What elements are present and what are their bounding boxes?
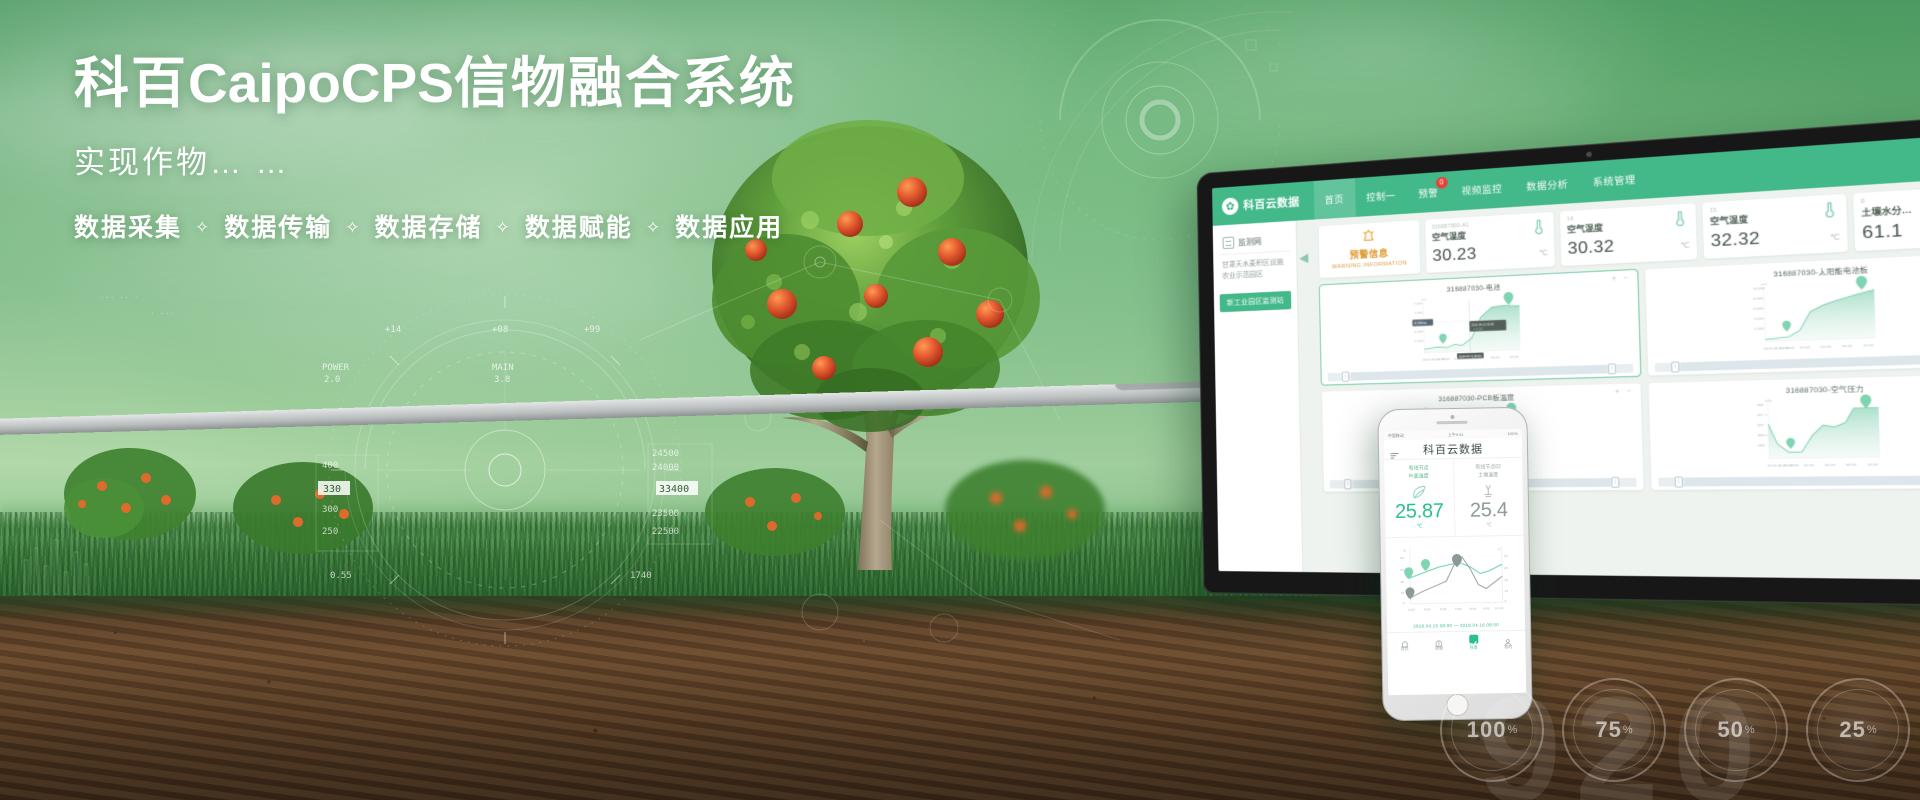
svg-text:986.5: 986.5 (1757, 433, 1767, 438)
phone-metric-name: 叶面温度 (1386, 473, 1451, 482)
phone-metric-cards: 有线节点叶面温度25.87℃有线节点02土壤温度25.4℃ (1384, 458, 1523, 538)
nav-item-首页[interactable]: 首页 (1313, 178, 1355, 219)
slider-handle-left[interactable]: ⁞ (1671, 362, 1679, 373)
svg-text:25: 25 (1400, 568, 1404, 572)
svg-text:7,200: 7,200 (1414, 302, 1423, 307)
hero-bullet-item: 数据应用 (675, 208, 783, 244)
laptop-device: ✿ 科百云数据 首页控制一预警0视频监控数据分析系统管理 监测网 甘肃天水麦积区… (1197, 110, 1920, 608)
svg-text:2,000: 2,000 (1754, 327, 1764, 332)
stat-unit: ℃ (1539, 249, 1548, 258)
svg-text:0: 0 (1403, 601, 1405, 605)
soil-probe-icon (1480, 482, 1497, 497)
chart-card[interactable]: 316887030-电池+ −6,715.002018-06-12 06:00●… (1320, 270, 1640, 385)
stat-card[interactable]: 8土壤水分…61.1% (1853, 184, 1920, 252)
svg-text:06:00: 06:00 (1824, 463, 1835, 468)
svg-text:15: 15 (1504, 589, 1508, 593)
title-latin: CaipoCPS (188, 52, 454, 114)
title-cn-1: 科百 (74, 52, 188, 114)
svg-text:6,000: 6,000 (1753, 306, 1763, 311)
svg-text:0: 0 (1505, 599, 1507, 603)
phone-body: 中国移动 上午9:41 100% 科百云数据 有线节点叶面温度25.87℃有线节… (1377, 407, 1532, 722)
stat-unit: ℃ (1830, 233, 1840, 243)
bullet-separator-icon: ✧ (646, 219, 662, 236)
stat-card[interactable]: 14空气温度30.32℃ (1560, 203, 1697, 266)
slider-fill (1684, 476, 1920, 487)
leaf-shield-icon: ✿ (1222, 197, 1239, 215)
phone-tab-任务[interactable]: 任务 (1456, 631, 1491, 655)
page-title: 科百CaipoCPS信物融合系统 (74, 52, 894, 115)
nav-item-预警[interactable]: 预警0 (1406, 171, 1450, 213)
svg-text:06:00: 06:00 (1472, 356, 1481, 361)
svg-text:15: 15 (1400, 591, 1404, 595)
phone-home-button[interactable] (1446, 694, 1468, 716)
svg-text:02:00: 02:00 (1782, 463, 1793, 468)
dashboard-logo[interactable]: ✿ 科百云数据 (1222, 192, 1314, 215)
phone-tab-label: 首页 (1387, 646, 1422, 653)
chart-plot: 10,0008,0006,0004,0002,0002018-06-12 00:… (1652, 269, 1920, 362)
svg-text:3:00: 3:00 (1408, 608, 1415, 612)
phone-app-title: 科百云数据 (1423, 440, 1483, 457)
home-icon (1400, 636, 1409, 645)
svg-text:02:00: 02:00 (1778, 346, 1788, 351)
status-battery: 100% (1507, 431, 1517, 436)
notification-badge: 0 (1436, 177, 1448, 189)
phone-screen: 中国移动 上午9:41 100% 科百云数据 有线节点叶面温度25.87℃有线节… (1384, 429, 1527, 695)
sidebar-site-name: 甘肃天水麦积区设施农业示范园区 (1219, 251, 1291, 288)
nav-item-label: 预警 (1418, 185, 1438, 200)
user-icon (1503, 634, 1512, 643)
hero-banner: +14+08+99 POWER2.0 MAIN3.8 400300250 245… (0, 0, 1920, 800)
dashboard-logo-label: 科百云数据 (1243, 193, 1300, 213)
svg-text:6,400: 6,400 (1414, 330, 1423, 335)
svg-text:08:00: 08:00 (1845, 463, 1856, 468)
svg-text:7,000: 7,000 (1414, 311, 1423, 316)
svg-text:4,000: 4,000 (1753, 317, 1763, 322)
svg-text:hPa: hPa (1765, 399, 1772, 404)
leaf-icon (1410, 483, 1427, 498)
svg-text:5:00: 5:00 (1440, 607, 1447, 611)
svg-text:987.5: 987.5 (1756, 413, 1766, 418)
nav-item-label: 首页 (1325, 192, 1344, 207)
svg-text:10:00: 10:00 (1867, 462, 1878, 467)
svg-text:06:00: 06:00 (1820, 344, 1831, 349)
phone-metric-unit: ℃ (1457, 522, 1522, 529)
cloud-wisp (1080, 40, 1600, 160)
alarm-icon (1360, 228, 1377, 245)
webcam-icon (1586, 152, 1592, 158)
stat-value: 30.23 (1432, 245, 1477, 266)
svg-text:986: 986 (1757, 443, 1764, 448)
bullet-separator-icon: ✧ (195, 219, 211, 236)
phone-metric-value: 25.87 (1387, 500, 1452, 524)
svg-text:25: 25 (1504, 566, 1508, 570)
svg-text:08:00: 08:00 (1491, 355, 1500, 360)
svg-text:8,000: 8,000 (1753, 296, 1763, 301)
slider-handle-left[interactable]: ⁞ (1342, 372, 1349, 383)
dashboard-body: 监测网 甘肃天水麦积区设施农业示范园区 新工业园区监测站 ◀ ▶ 预警信息WAR… (1213, 174, 1920, 581)
nav-item-系统管理[interactable]: 系统管理 (1580, 157, 1649, 203)
nav-item-label: 控制一 (1366, 188, 1396, 203)
phone-tab-label: 数据 (1422, 645, 1457, 652)
cloud-wisp (60, 230, 680, 350)
svg-text:20: 20 (1400, 580, 1404, 584)
svg-text:10:00: 10:00 (1509, 355, 1518, 360)
phone-metric-name: 土壤温度 (1456, 471, 1521, 480)
chart-card[interactable]: 316887030-太阳能电池板+ −10,0008,0006,0004,000… (1645, 252, 1920, 376)
hero-bullet-list: 数据采集✧数据传输✧数据存储✧数据赋能✧数据应用 (74, 208, 894, 244)
nav-item-控制一[interactable]: 控制一 (1355, 174, 1408, 217)
stat-card-warning[interactable]: 预警信息WARNING INFORMATION (1319, 220, 1421, 278)
svg-text:04:00: 04:00 (1799, 345, 1810, 350)
svg-text:8:00: 8:00 (1470, 607, 1477, 611)
nav-item-label: 数据分析 (1526, 176, 1568, 193)
chart-tools[interactable]: + − (1612, 275, 1631, 283)
slider-handle-left[interactable]: ⁞ (1344, 479, 1351, 489)
svg-text:6,800: 6,800 (1414, 320, 1423, 325)
phone-tab-label: 任务 (1456, 644, 1491, 651)
svg-text:● 6,581: ● 6,581 (1473, 327, 1483, 332)
soil-band (0, 596, 1920, 800)
bullet-separator-icon: ✧ (496, 219, 512, 236)
carousel-prev-icon[interactable]: ◀ (1297, 250, 1310, 264)
svg-text:04:00: 04:00 (1803, 463, 1814, 468)
hero-bullet-item: 数据存储 (375, 208, 483, 244)
laptop-bezel: ✿ 科百云数据 首页控制一预警0视频监控数据分析系统管理 监测网 甘肃天水麦积区… (1197, 110, 1920, 608)
svg-text:10:00: 10:00 (1862, 343, 1873, 348)
nav-item-数据分析[interactable]: 数据分析 (1514, 162, 1581, 207)
chart-plot: 6,715.002018-06-12 06:00● 6,5812018-06-1… (1326, 286, 1632, 372)
stat-label: 空气温度 (1710, 213, 1748, 227)
stat-card[interactable]: 316887030-A1空气温度30.23℃ (1425, 212, 1555, 273)
svg-text:02:00: 02:00 (1436, 357, 1445, 362)
phone-metric-card[interactable]: 有线节点叶面温度25.87℃ (1384, 459, 1454, 537)
hero-copy: 科百CaipoCPS信物融合系统 实现作物… … 数据采集✧数据传输✧数据存储✧… (74, 52, 894, 244)
phone-tab-首页[interactable]: 首页 (1387, 633, 1422, 657)
stat-label: 空气温度 (1567, 222, 1603, 236)
stat-value: 61.1 (1862, 221, 1903, 244)
phone-speaker (1438, 421, 1468, 425)
sidebar-station-tag[interactable]: 新工业园区监测站 (1220, 291, 1292, 312)
phone-device: 中国移动 上午9:41 100% 科百云数据 有线节点叶面温度25.87℃有线节… (1377, 407, 1532, 722)
nav-item-视频监控[interactable]: 视频监控 (1449, 167, 1514, 211)
svg-text:987: 987 (1757, 423, 1764, 428)
phone-tab-数据[interactable]: 数据 (1422, 632, 1457, 656)
phone-camera-icon (1450, 415, 1454, 419)
slider-handle-right[interactable]: ⁞ (1612, 477, 1620, 488)
phone-tabbar[interactable]: 首页数据任务我的 (1387, 630, 1525, 656)
hero-bullet-item: 数据传输 (224, 208, 332, 244)
svg-text:10,000: 10,000 (1752, 286, 1764, 291)
stat-unit: ℃ (1680, 241, 1689, 250)
phone-metric-value: 25.4 (1456, 499, 1521, 523)
stat-card[interactable]: 15空气温度32.32℃ (1702, 194, 1847, 259)
title-cn-2: 信物融合系统 (454, 52, 796, 114)
warning-title: 预警信息 (1349, 246, 1388, 262)
svg-text:mV: mV (1761, 282, 1767, 287)
thermometer-icon (1671, 209, 1689, 226)
gauge-icon (1434, 635, 1443, 644)
stat-value: 32.32 (1710, 229, 1760, 252)
sidebar-item-label: 监测网 (1238, 235, 1262, 247)
stat-label: 土壤水分… (1861, 204, 1912, 219)
phone-app-header: 科百云数据 (1384, 438, 1522, 460)
chart-tools[interactable]: + − (1615, 388, 1634, 396)
phone-tab-我的[interactable]: 我的 (1491, 631, 1526, 655)
nav-item-label: 系统管理 (1592, 172, 1635, 189)
chart-range-slider[interactable]: ⁞⁞ (1658, 476, 1920, 487)
bullet-separator-icon: ✧ (345, 219, 361, 236)
svg-text:7:00: 7:00 (1455, 607, 1462, 611)
slider-handle-right[interactable]: ⁞ (1608, 364, 1616, 375)
slider-handle-left[interactable]: ⁞ (1674, 477, 1683, 488)
stat-value: 30.32 (1567, 237, 1614, 259)
status-time: 上午9:41 (1448, 431, 1464, 437)
svg-text:10:00: 10:00 (1495, 606, 1504, 610)
chart-card[interactable]: 316887030-空气压力+ −988987.5987986.59862018… (1648, 374, 1920, 490)
hero-bullet-item: 数据采集 (74, 208, 182, 244)
check-icon (1469, 635, 1478, 644)
svg-text:4:00: 4:00 (1424, 607, 1431, 611)
svg-text:08:00: 08:00 (1841, 344, 1852, 349)
hero-subtitle: 实现作物… … (74, 137, 894, 182)
svg-text:6,200: 6,200 (1415, 339, 1424, 344)
dashboard-sidebar: 监测网 甘肃天水麦积区设施农业示范园区 新工业园区监测站 (1213, 221, 1304, 572)
phone-tab-label: 我的 (1491, 644, 1526, 651)
thermometer-icon (1530, 218, 1547, 235)
hamburger-icon[interactable] (1390, 446, 1399, 453)
hero-bullet-item: 数据赋能 (525, 208, 633, 244)
list-icon (1223, 237, 1235, 250)
phone-chart: ℃% 302520 150 302520 150 3:004:005:00 7:… (1386, 536, 1525, 620)
svg-text:mV: mV (1421, 298, 1426, 303)
stat-label: 空气温度 (1432, 230, 1470, 244)
warning-subtitle: WARNING INFORMATION (1332, 260, 1408, 272)
svg-text:%: % (1498, 547, 1501, 551)
nav-item-label: 视频监控 (1461, 181, 1502, 197)
phone-metric-card[interactable]: 有线节点02土壤温度25.4℃ (1453, 458, 1524, 536)
status-carrier: 中国移动 (1388, 432, 1404, 438)
svg-text:℃: ℃ (1403, 549, 1407, 553)
svg-text:20: 20 (1504, 578, 1508, 582)
svg-text:30: 30 (1504, 554, 1508, 558)
svg-text:9:00: 9:00 (1483, 606, 1490, 610)
phone-metric-unit: ℃ (1387, 523, 1452, 530)
chart-plot: 988987.5987986.59862018-06-12 00:0002:00… (1655, 391, 1920, 476)
svg-text:988: 988 (1756, 403, 1763, 408)
svg-text:30: 30 (1400, 556, 1404, 560)
svg-text:04:00: 04:00 (1454, 357, 1463, 362)
laptop-screen: ✿ 科百云数据 首页控制一预警0视频监控数据分析系统管理 监测网 甘肃天水麦积区… (1212, 130, 1920, 581)
thermometer-icon (1820, 200, 1839, 218)
